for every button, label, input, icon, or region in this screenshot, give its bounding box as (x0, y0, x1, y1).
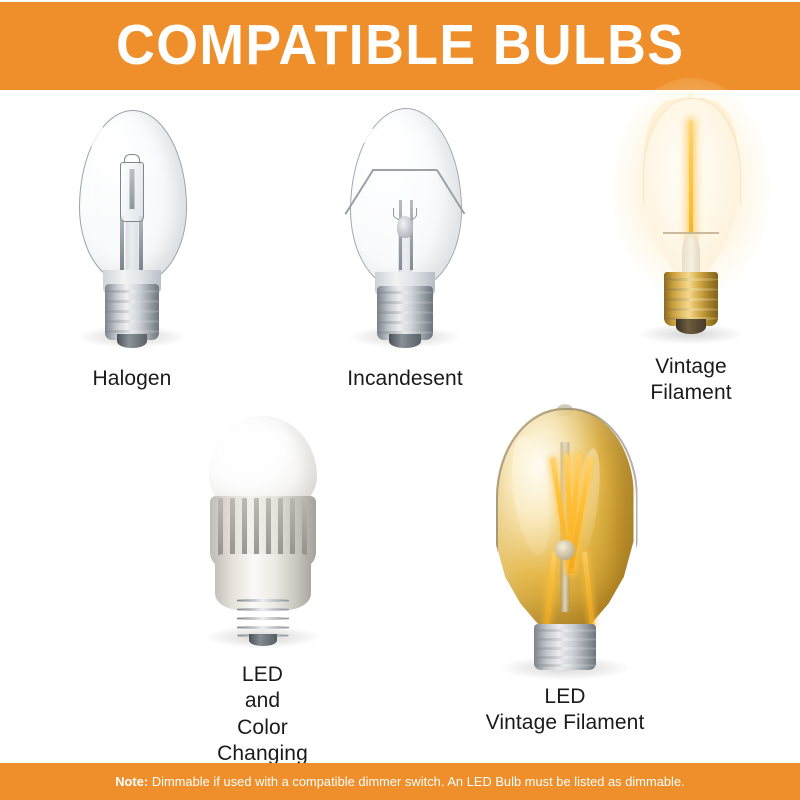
stem-bead (555, 540, 575, 560)
bulb-caption-halogen: Halogen (62, 366, 202, 392)
heatsink-fin (302, 498, 307, 560)
heatsink-fin (266, 498, 271, 560)
bulb-cell-vintage-filament: Vintage Filament (616, 90, 766, 407)
heatsink-fin (290, 498, 295, 560)
led-bulb-icon (193, 412, 333, 642)
led-vintage-filament-bulb-icon (478, 402, 653, 672)
base-thread (664, 298, 718, 301)
bulb-caption-vintage-filament: Vintage Filament (616, 354, 766, 407)
bulb-caption-led: LED and Color Changing (190, 662, 335, 767)
base-thread (377, 311, 433, 314)
base-tip-contact (249, 634, 277, 646)
bulb-cell-led-vintage-filament: LED Vintage Filament (475, 402, 655, 737)
base-thread (237, 608, 289, 611)
screw-base (664, 272, 718, 326)
base-thread (105, 320, 159, 323)
footer-note-label: Note: (115, 774, 148, 789)
screw-base (534, 624, 596, 670)
support-post-right (139, 216, 143, 270)
stem-bead (397, 216, 413, 238)
base-thread (237, 617, 289, 620)
heatsink-fin (254, 498, 259, 560)
base-thread (534, 664, 596, 667)
base-thread (377, 291, 433, 294)
base-thread (377, 321, 433, 324)
footer-note: Note: Dimmable if used with a compatible… (115, 774, 684, 789)
base-thread (105, 300, 159, 303)
screw-base (377, 286, 433, 340)
halogen-bulb-icon (67, 104, 197, 344)
base-thread (534, 647, 596, 650)
page-title: COMPATIBLE BULBS (116, 17, 684, 74)
header-banner: COMPATIBLE BULBS (0, 2, 800, 90)
base-thread (105, 310, 159, 313)
bulb-cell-incandescent: Incandesent (335, 104, 475, 392)
bulb-cell-halogen: Halogen (62, 104, 202, 392)
base-thread (664, 308, 718, 311)
filament (689, 120, 693, 238)
base-tip-contact (676, 319, 706, 334)
base-thread (534, 638, 596, 641)
bulb-cell-led: LED and Color Changing (190, 412, 335, 767)
bulb-caption-incandescent: Incandesent (335, 366, 475, 392)
base-thread (237, 599, 289, 602)
bulb-grid: Halogen Incandesent (0, 90, 800, 763)
filament-cone-top (372, 169, 437, 171)
base-thread (534, 656, 596, 659)
heatsink-fin (230, 498, 235, 560)
screw-base (105, 284, 159, 340)
base-thread (664, 288, 718, 291)
halogen-capsule (120, 162, 144, 222)
support-post-left (120, 216, 124, 270)
base-tip-contact (389, 334, 421, 348)
base-tip-contact (117, 334, 147, 348)
footer-banner: Note: Dimmable if used with a compatible… (0, 763, 800, 800)
heatsink-fin (218, 498, 223, 560)
heatsink-fin (278, 498, 283, 560)
base-thread (105, 330, 159, 333)
base-thread (534, 629, 596, 632)
base-thread (377, 301, 433, 304)
vintage-filament-bulb-icon (621, 90, 761, 340)
base-thread (105, 290, 159, 293)
bulb-caption-led-vintage-filament: LED Vintage Filament (475, 684, 655, 737)
heatsink-fin (242, 498, 247, 560)
base-thread (237, 626, 289, 629)
base-thread (664, 278, 718, 281)
footer-note-text: Dimmable if used with a compatible dimme… (148, 774, 685, 789)
incandescent-bulb-icon (340, 104, 470, 344)
